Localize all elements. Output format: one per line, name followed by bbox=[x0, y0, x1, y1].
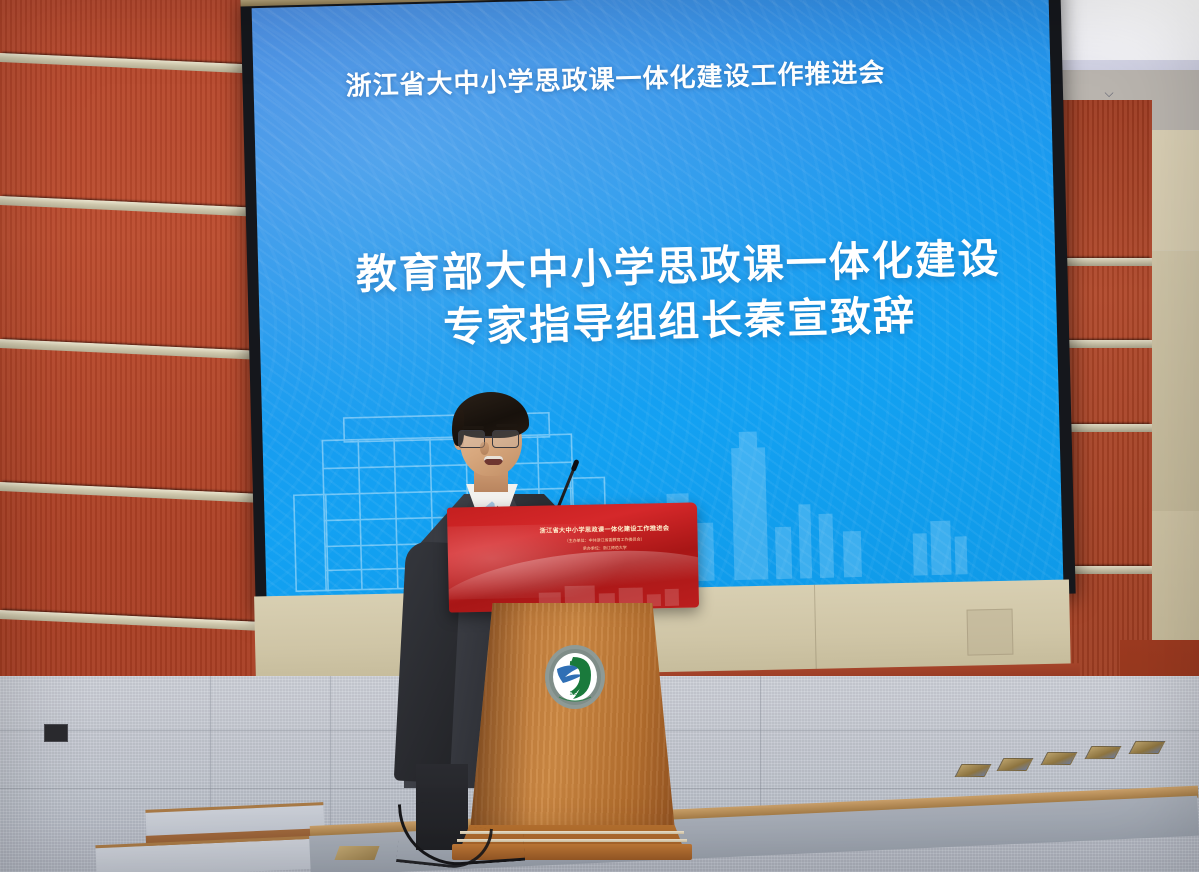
mouth bbox=[484, 456, 503, 465]
podium-front-banner-panel: 浙江省大中小学思政课一体化建设工作推进会 （主办单位：中共浙江省委教育工作委员会… bbox=[447, 502, 699, 612]
left-wood-wall bbox=[0, 0, 258, 790]
slide-header-text: 浙江省大中小学思政课一体化建设工作推进会 bbox=[345, 50, 986, 103]
right-acoustic-panel-seam bbox=[1148, 250, 1199, 511]
carpet-seam bbox=[210, 676, 211, 826]
eyebrow-left bbox=[462, 426, 484, 429]
university-crest-icon[interactable]: 1956 bbox=[543, 643, 607, 711]
carpet-seam bbox=[760, 676, 761, 826]
wall-access-panel bbox=[967, 609, 1014, 656]
slide-title-line1: 教育部大中小学思政课一体化建设 bbox=[355, 235, 1001, 297]
lens-right bbox=[492, 430, 519, 448]
nose bbox=[480, 442, 489, 455]
eyebrow-right bbox=[496, 424, 518, 427]
carpet-seam bbox=[330, 676, 331, 826]
sprinkler-head-icon: ⌵ bbox=[1104, 86, 1114, 100]
slide-title: 教育部大中小学思政课一体化建设 专家指导组组长秦宣致辞 bbox=[328, 231, 1031, 359]
conference-photo-scene: ⌵ bbox=[0, 0, 1199, 872]
glasses-bridge bbox=[483, 436, 492, 438]
floor-access-hatch bbox=[334, 846, 379, 860]
wall-power-socket-icon bbox=[44, 724, 68, 742]
podium-banner-text: 浙江省大中小学思政课一体化建设工作推进会 （主办单位：中共浙江省委教育工作委员会… bbox=[529, 525, 679, 552]
slide-title-line2: 专家指导组组长秦宣致辞 bbox=[329, 286, 1030, 359]
panel-seam bbox=[814, 585, 817, 681]
eyeglasses-icon bbox=[456, 430, 526, 447]
svg-text:1956: 1956 bbox=[569, 691, 580, 697]
podium-banner-line1: 浙江省大中小学思政课一体化建设工作推进会 bbox=[529, 525, 679, 536]
